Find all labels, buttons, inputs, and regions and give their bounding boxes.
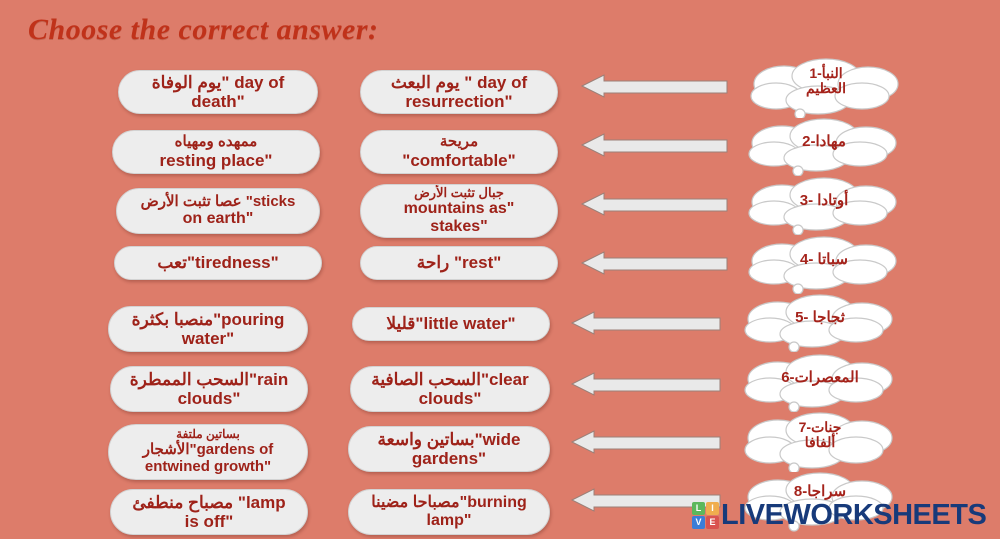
worksheet-canvas: Choose the correct answer: يوم الوفاة" d… <box>0 0 1000 539</box>
option-line-1: السحب الممطرة"rain <box>121 370 297 389</box>
answer-option-middle-5[interactable]: قليلا"little water" <box>352 307 550 341</box>
answer-option-middle-6[interactable]: السحب الصافية"clear clouds" <box>350 366 550 412</box>
question-cloud-7[interactable]: 7-جنات ألفافا <box>736 410 904 472</box>
option-line-1: تعب"tiredness" <box>125 253 311 272</box>
logo-tile-e: E <box>706 516 719 529</box>
option-line-2: resting place" <box>123 151 309 170</box>
answer-option-middle-3[interactable]: جبال تثبت الأرض mountains as" stakes" <box>360 184 558 238</box>
logo-tile-i: I <box>706 502 719 515</box>
option-line-1: يوم البعث " day of <box>371 73 547 92</box>
option-line-2: mountains as" <box>371 200 547 218</box>
logo-tiles: L I V E <box>692 502 719 529</box>
answer-option-left-2[interactable]: ممهده ومهياه resting place" <box>112 130 320 174</box>
option-line-2: resurrection" <box>371 92 547 111</box>
match-arrow-3[interactable] <box>582 191 727 217</box>
answer-option-left-3[interactable]: عصا تثبت الأرض "sticks on earth" <box>116 188 320 234</box>
option-line-1: قليلا"little water" <box>363 314 539 333</box>
match-arrow-4[interactable] <box>582 250 727 276</box>
option-line-1: مصباحا مضينا"burning <box>359 494 539 512</box>
answer-option-left-4[interactable]: تعب"tiredness" <box>114 246 322 280</box>
option-line-2: water" <box>119 329 297 348</box>
option-line-1: راحة "rest" <box>371 253 547 272</box>
answer-option-middle-1[interactable]: يوم البعث " day of resurrection" <box>360 70 558 114</box>
option-line-1: بساتين ملتفة <box>119 428 297 441</box>
option-line-2: الأشجار"gardens of <box>119 442 297 459</box>
answer-option-left-7[interactable]: بساتين ملتفة الأشجار"gardens of entwined… <box>108 424 308 480</box>
logo-tile-l: L <box>692 502 705 515</box>
answer-option-middle-2[interactable]: مريحة "comfortable" <box>360 130 558 174</box>
option-line-1: مريحة <box>371 134 547 151</box>
option-line-3: entwined growth" <box>119 459 297 476</box>
answer-option-left-5[interactable]: منصبا بكثرة"pouring water" <box>108 306 308 352</box>
option-line-1: منصبا بكثرة"pouring <box>119 310 297 329</box>
answer-option-middle-4[interactable]: راحة "rest" <box>360 246 558 280</box>
match-arrow-1[interactable] <box>582 73 727 99</box>
answer-option-left-6[interactable]: السحب الممطرة"rain clouds" <box>110 366 308 412</box>
match-arrow-6[interactable] <box>572 371 720 397</box>
answer-option-middle-7[interactable]: بساتين واسعة"wide gardens" <box>348 426 550 472</box>
option-line-3: stakes" <box>371 218 547 236</box>
logo-tile-v: V <box>692 516 705 529</box>
liveworksheets-logo: L I V E LIVEWORKSHEETS <box>692 498 986 532</box>
question-cloud-4[interactable]: 4- سباتا <box>740 234 908 294</box>
option-line-1: مصباح منطفئ "lamp <box>121 493 297 512</box>
page-title: Choose the correct answer: <box>28 13 379 47</box>
option-line-2: gardens" <box>359 449 539 468</box>
question-cloud-3[interactable]: 3- أوتادا <box>740 175 908 235</box>
option-line-2: death" <box>129 92 307 111</box>
match-arrow-7[interactable] <box>572 429 720 455</box>
question-cloud-2[interactable]: 2-مهادا <box>740 116 908 176</box>
answer-option-left-8[interactable]: مصباح منطفئ "lamp is off" <box>110 489 308 535</box>
logo-wordmark: LIVEWORKSHEETS <box>721 501 986 530</box>
answer-option-middle-8[interactable]: مصباحا مضينا"burning lamp" <box>348 489 550 535</box>
option-line-1: السحب الصافية"clear <box>361 370 539 389</box>
option-line-1: ممهده ومهياه <box>123 134 309 151</box>
answer-option-left-1[interactable]: يوم الوفاة" day of death" <box>118 70 318 114</box>
match-arrow-5[interactable] <box>572 310 720 336</box>
option-line-2: clouds" <box>361 389 539 408</box>
option-line-1: يوم الوفاة" day of <box>129 73 307 92</box>
option-line-2: "comfortable" <box>371 151 547 170</box>
option-line-2: is off" <box>121 512 297 531</box>
match-arrow-2[interactable] <box>582 132 727 158</box>
option-line-2: on earth" <box>127 210 309 228</box>
option-line-1: جبال تثبت الأرض <box>371 186 547 201</box>
option-line-2: lamp" <box>359 512 539 530</box>
option-line-1: بساتين واسعة"wide <box>359 430 539 449</box>
option-line-2: clouds" <box>121 389 297 408</box>
question-cloud-5[interactable]: 5- ثجاجا <box>736 292 904 352</box>
question-cloud-1[interactable]: 1-النبأ العظيم <box>742 56 910 118</box>
question-cloud-6[interactable]: 6-المعصرات <box>736 352 904 412</box>
option-line-1: عصا تثبت الأرض "sticks <box>127 194 309 211</box>
